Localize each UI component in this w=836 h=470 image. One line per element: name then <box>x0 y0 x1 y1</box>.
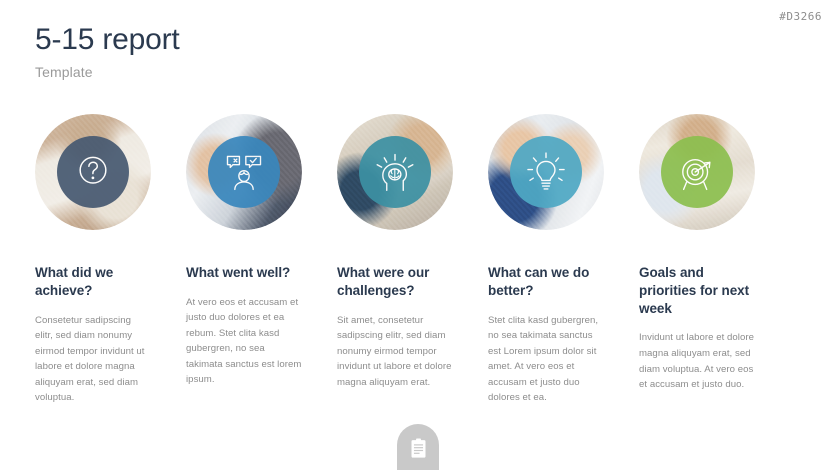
column-heading: What can we do better? <box>488 264 604 300</box>
column-body: Consetetur sadipscing elitr, sed diam no… <box>35 313 151 406</box>
column-body: Invidunt ut labore et dolore magna aliqu… <box>639 330 755 392</box>
column-do-better: What can we do better? Stet clita kasd g… <box>488 114 604 406</box>
bottom-tab-button[interactable] <box>397 424 439 470</box>
photo-circle-4 <box>488 114 604 230</box>
column-heading: Goals and priorities for next week <box>639 264 755 317</box>
column-goals: Goals and priorities for next week Invid… <box>639 114 755 406</box>
page-title: 5-15 report <box>35 24 180 56</box>
photo-circle-2 <box>186 114 302 230</box>
column-challenges: What were our challenges? Sit amet, cons… <box>337 114 453 406</box>
lightbulb-icon <box>524 150 568 194</box>
column-heading: What did we achieve? <box>35 264 151 300</box>
header: 5-15 report Template <box>35 24 180 80</box>
icon-bubble-5 <box>661 136 733 208</box>
question-mark-icon <box>71 150 115 194</box>
watermark-code: #D3266 <box>779 10 822 23</box>
column-achieve: What did we achieve? Consetetur sadipsci… <box>35 114 151 406</box>
photo-circle-5 <box>639 114 755 230</box>
column-body: Sit amet, consetetur sadipscing elitr, s… <box>337 313 453 391</box>
photo-circle-1 <box>35 114 151 230</box>
icon-bubble-2 <box>208 136 280 208</box>
clipboard-icon <box>410 438 427 459</box>
page-subtitle: Template <box>35 64 180 80</box>
feedback-speech-bubbles-icon <box>222 150 266 194</box>
columns-container: What did we achieve? Consetetur sadipsci… <box>35 114 801 406</box>
column-heading: What were our challenges? <box>337 264 453 300</box>
brain-head-idea-icon <box>373 150 417 194</box>
target-arrow-icon <box>675 150 719 194</box>
column-body: At vero eos et accusam et justo duo dolo… <box>186 295 302 388</box>
icon-bubble-4 <box>510 136 582 208</box>
column-went-well: What went well? At vero eos et accusam e… <box>186 114 302 406</box>
column-heading: What went well? <box>186 264 302 282</box>
column-body: Stet clita kasd gubergren, no sea takima… <box>488 313 604 406</box>
icon-bubble-3 <box>359 136 431 208</box>
icon-bubble-1 <box>57 136 129 208</box>
photo-circle-3 <box>337 114 453 230</box>
